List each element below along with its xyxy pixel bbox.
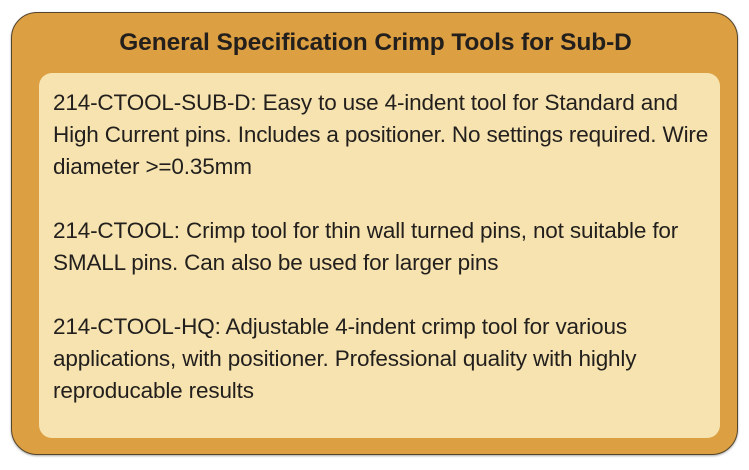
paragraph-spacer <box>53 279 714 311</box>
spec-paragraph-ctool-hq: 214-CTOOL-HQ: Adjustable 4-indent crimp … <box>53 311 714 407</box>
spec-paragraph-ctool-sub-d: 214-CTOOL-SUB-D: Easy to use 4-indent to… <box>53 87 714 183</box>
specification-body-card: 214-CTOOL-SUB-D: Easy to use 4-indent to… <box>39 73 720 438</box>
page-title: General Specification Crimp Tools for Su… <box>12 29 739 57</box>
paragraph-spacer <box>53 183 714 215</box>
specification-panel: General Specification Crimp Tools for Su… <box>11 12 738 455</box>
spec-paragraph-ctool: 214-CTOOL: Crimp tool for thin wall turn… <box>53 215 714 279</box>
